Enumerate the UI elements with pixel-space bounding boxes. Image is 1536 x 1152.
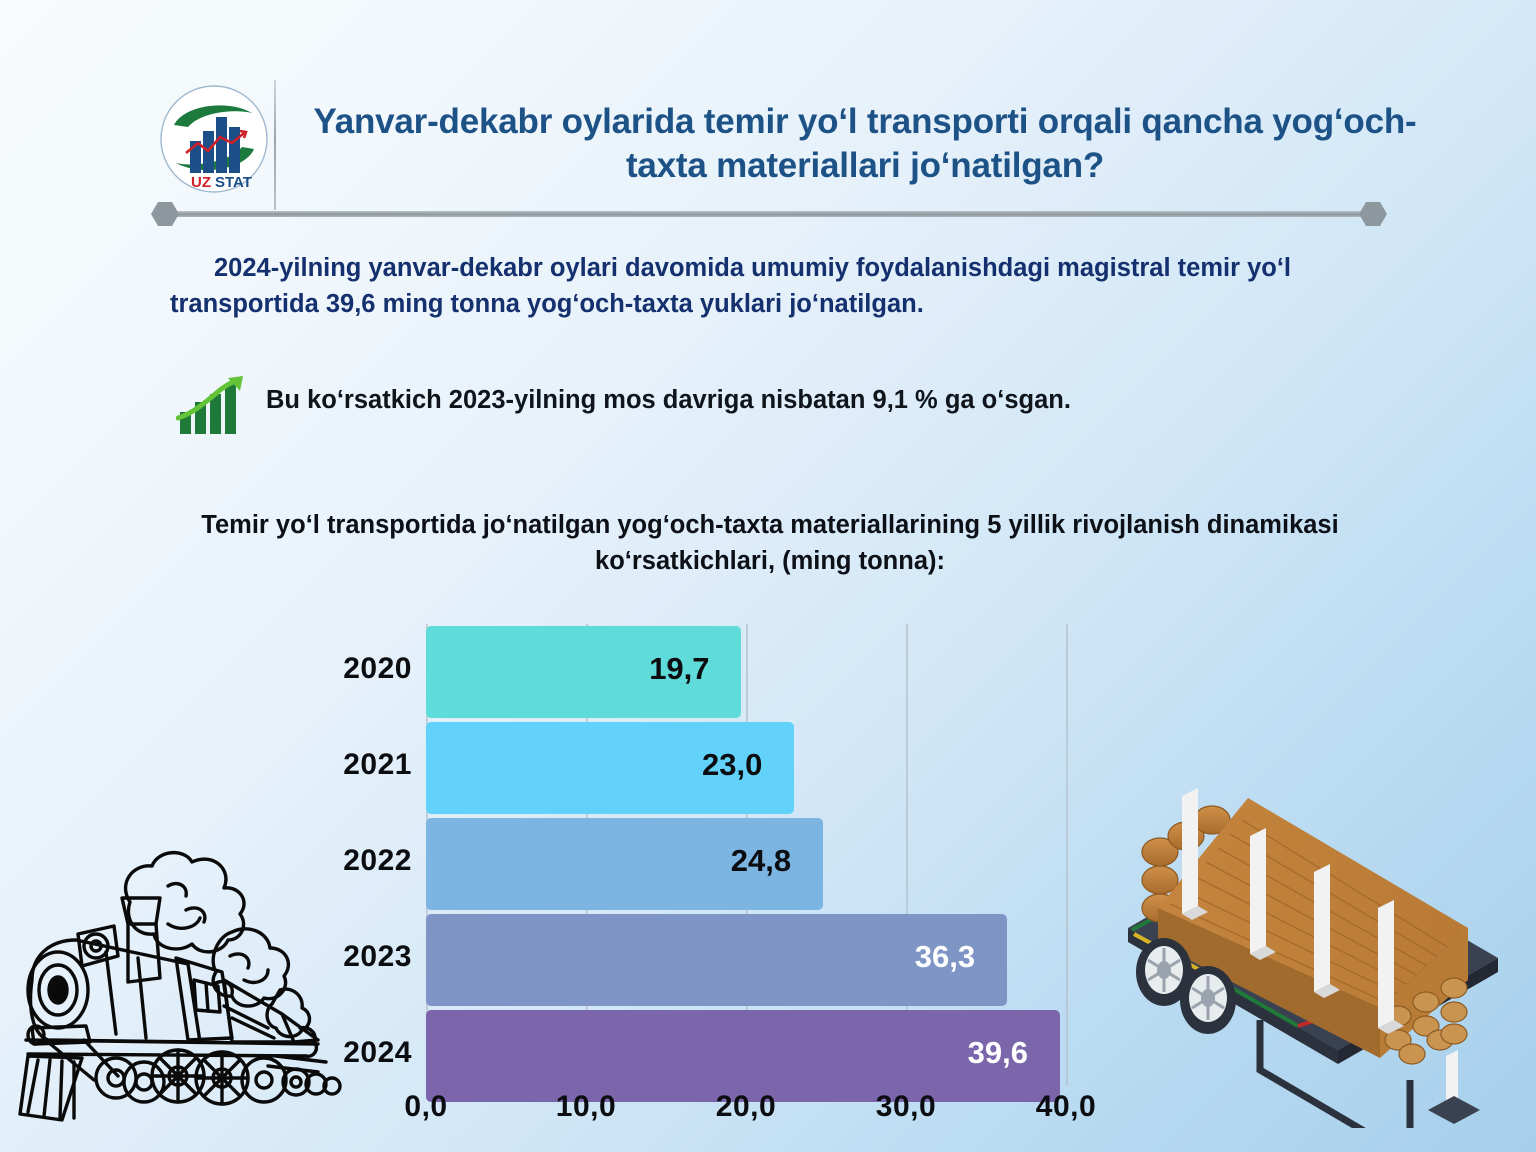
chart-bar-row: 202123,0 <box>300 722 1150 814</box>
header-rule <box>150 200 1388 228</box>
bar-category-label-2020: 2020 <box>300 652 412 686</box>
bar-chart: 202019,7202123,0202224,8202336,3202439,6… <box>300 624 1150 1094</box>
bar-chart-growth-icon <box>176 374 248 436</box>
bar-value-label-2020: 19,7 <box>649 651 709 687</box>
x-tick-label-0-0: 0,0 <box>366 1090 486 1124</box>
bar-2024[interactable] <box>426 1010 1060 1102</box>
chart-caption: Temir yo‘l transportida jo‘natilgan yog‘… <box>150 508 1390 579</box>
infographic-page: UZ STAT Yanvar-dekabr oylarida temir yo‘… <box>0 0 1536 1152</box>
x-tick-label-20-0: 20,0 <box>686 1090 806 1124</box>
timber-flatbed-trailer-illustration <box>1098 758 1536 1128</box>
page-title: Yanvar-dekabr oylarida temir yo‘l transp… <box>290 100 1440 188</box>
chart-bar-row: 202439,6 <box>300 1010 1150 1102</box>
lead-paragraph: 2024-yilning yanvar-dekabr oylari davomi… <box>170 250 1440 322</box>
bar-value-label-2021: 23,0 <box>702 747 762 783</box>
growth-text: Bu ko‘rsatkich 2023-yilning mos davriga … <box>266 384 1366 417</box>
chart-bar-row: 202224,8 <box>300 818 1150 910</box>
chart-bar-row: 202336,3 <box>300 914 1150 1006</box>
x-tick-label-10-0: 10,0 <box>526 1090 646 1124</box>
hexagon-cap-left-icon <box>150 200 180 228</box>
steam-locomotive-illustration <box>18 828 348 1128</box>
bar-value-label-2023: 36,3 <box>915 939 975 975</box>
growth-indicator-row: Bu ko‘rsatkich 2023-yilning mos davriga … <box>176 372 1376 436</box>
header-vertical-divider <box>274 80 276 210</box>
chart-bar-row: 202019,7 <box>300 626 1150 718</box>
x-tick-label-30-0: 30,0 <box>846 1090 966 1124</box>
bar-value-label-2024: 39,6 <box>968 1035 1028 1071</box>
bar-value-label-2022: 24,8 <box>731 843 791 879</box>
chart-x-axis: 0,010,020,030,040,0 <box>300 1090 1150 1136</box>
bar-category-label-2021: 2021 <box>300 748 412 782</box>
header-rule-line <box>164 211 1374 217</box>
header: UZ STAT Yanvar-dekabr oylarida temir yo‘… <box>0 0 1536 215</box>
logo-text-uz: UZ <box>191 174 211 191</box>
uzstat-logo: UZ STAT <box>158 83 270 195</box>
hexagon-cap-right-icon <box>1358 200 1388 228</box>
logo-text-stat: STAT <box>215 174 252 191</box>
